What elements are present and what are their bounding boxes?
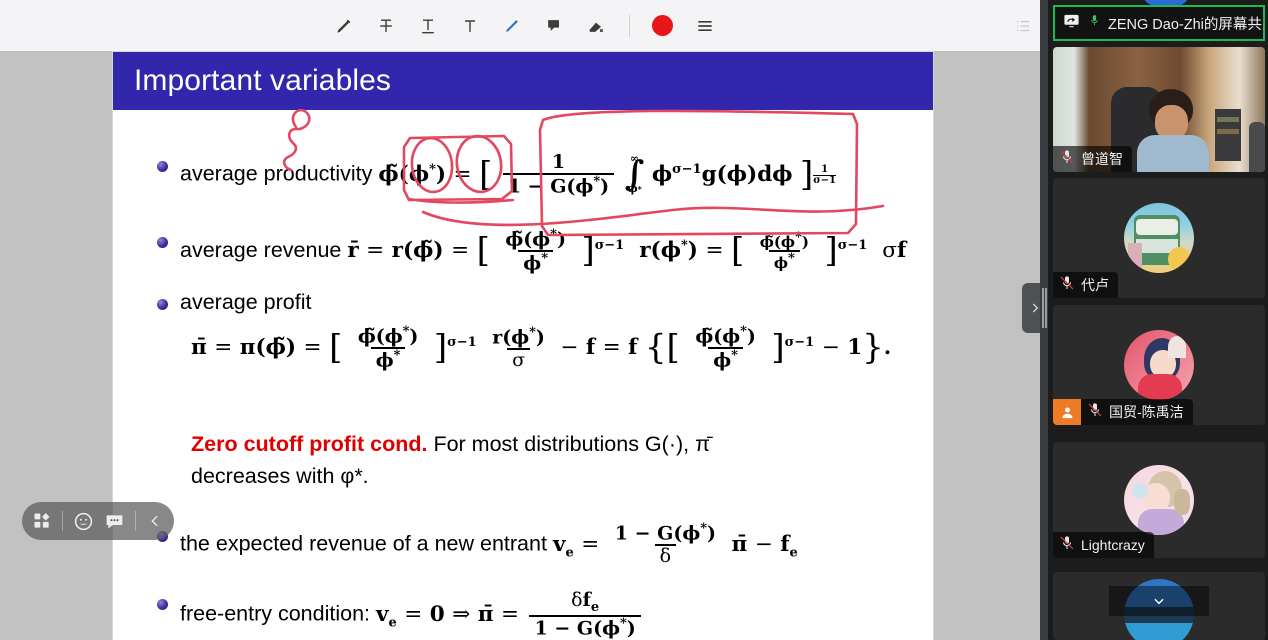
- participant-name: 国贸-陈禹洁: [1109, 402, 1184, 422]
- bullet-text: average productivity ϕ̃(ϕ*) = [ 1 1 − G(…: [180, 152, 836, 197]
- apps-grid-icon[interactable]: [32, 510, 52, 532]
- note-text: For most distributions G(·), π̄: [433, 432, 709, 456]
- participant-name-badge: Lightcrazy: [1053, 532, 1154, 558]
- hamburger-menu-icon[interactable]: [692, 13, 718, 39]
- text-strikethrough-icon[interactable]: [373, 13, 399, 39]
- avatar: [1124, 465, 1194, 535]
- note-text: decreases with φ*.: [191, 464, 369, 488]
- bullet-label: average revenue: [180, 238, 341, 262]
- emoji-reaction-icon[interactable]: [73, 510, 94, 532]
- screen-share-icon: [1062, 12, 1081, 34]
- screen-share-label: ZENG Dao-Zhi的屏幕共: [1108, 13, 1262, 34]
- note-zero-cutoff-profit: Zero cutoff profit cond. For most distri…: [191, 432, 710, 457]
- participant-name-badge: 国贸-陈禹洁: [1081, 399, 1193, 425]
- participant-tile-dailu[interactable]: 代卢: [1053, 178, 1265, 298]
- bullet-text: average revenue r̄ = r(ϕ̃) = [ ϕ̃(ϕ*)ϕ* …: [180, 228, 906, 274]
- page-title: Important variables: [113, 64, 391, 98]
- pen-tool-icon[interactable]: [331, 13, 357, 39]
- bullet-average-productivity: average productivity ϕ̃(ϕ*) = [ 1 1 − G(…: [157, 152, 836, 197]
- bullet-dot-icon: [157, 599, 168, 610]
- microphone-icon: [1088, 12, 1101, 34]
- floating-toolbar: [22, 502, 174, 540]
- mic-muted-icon: [1059, 535, 1075, 556]
- annotation-toolbar: [0, 0, 1048, 52]
- bullet-expected-revenue: the expected revenue of a new entrant ve…: [157, 522, 798, 567]
- host-badge-icon: [1053, 399, 1081, 425]
- mic-muted-icon: [1059, 275, 1075, 296]
- mic-muted-icon: [1087, 402, 1103, 423]
- participant-name-badge: 曾道智: [1053, 146, 1132, 172]
- toolbar-divider: [62, 511, 63, 531]
- note-zero-cutoff-line2: decreases with φ*.: [191, 464, 369, 489]
- toolbar-divider: [629, 15, 630, 37]
- note-red-label: Zero cutoff profit cond.: [191, 432, 427, 456]
- screen-share-banner[interactable]: ZENG Dao-Zhi的屏幕共: [1053, 5, 1265, 41]
- participant-name: 曾道智: [1081, 149, 1123, 169]
- shared-screen-region: Important variables average productivity…: [0, 0, 1048, 640]
- participant-tile-zeng-daozhi[interactable]: 曾道智: [1053, 47, 1265, 172]
- bullet-label: the expected revenue of a new entrant: [180, 532, 547, 556]
- list-view-icon[interactable]: [1012, 17, 1034, 40]
- mic-muted-icon: [1059, 149, 1075, 170]
- chat-bubble-icon[interactable]: [104, 510, 125, 532]
- panel-drag-handle[interactable]: [1040, 0, 1048, 640]
- slide-title-bar: Important variables: [113, 52, 933, 110]
- participant-strip: ZENG Dao-Zhi的屏幕共: [1048, 0, 1268, 640]
- participant-tile-lightcrazy[interactable]: Lightcrazy: [1053, 442, 1265, 558]
- highlighter-pen-icon[interactable]: [499, 13, 525, 39]
- bullet-label: free-entry condition:: [180, 602, 370, 626]
- participant-name: 代卢: [1081, 275, 1109, 295]
- scroll-down-button[interactable]: [1109, 586, 1209, 616]
- record-dot-icon[interactable]: [650, 13, 676, 39]
- toolbar-divider: [135, 511, 136, 531]
- avatar: [1124, 330, 1194, 400]
- bullet-dot-icon: [157, 161, 168, 172]
- bullet-text: the expected revenue of a new entrant ve…: [180, 522, 798, 567]
- comment-icon[interactable]: [541, 13, 567, 39]
- presentation-slide: Important variables average productivity…: [113, 52, 933, 640]
- bullet-label: average productivity: [180, 162, 372, 186]
- text-underline-icon[interactable]: [415, 13, 441, 39]
- text-tool-icon[interactable]: [457, 13, 483, 39]
- participant-tile-partial[interactable]: [1053, 572, 1265, 640]
- participant-name-badge: 代卢: [1053, 272, 1118, 298]
- bullet-dot-icon: [157, 299, 168, 310]
- eraser-icon[interactable]: [583, 13, 609, 39]
- bullet-average-profit: average profit: [157, 290, 311, 315]
- avatar: [1124, 203, 1194, 273]
- formula-average-profit: π̄ = π(ϕ̃) = [ ϕ̃(ϕ*)ϕ* ]σ−1 r(ϕ*)σ − f …: [191, 325, 891, 371]
- participant-name: Lightcrazy: [1081, 537, 1145, 553]
- collapse-left-icon[interactable]: [146, 510, 164, 532]
- bullet-free-entry-condition: free-entry condition: ve = 0 ⇒ π̄ = δfe1…: [157, 590, 644, 639]
- slide-body: average productivity ϕ̃(ϕ*) = [ 1 1 − G(…: [113, 110, 933, 640]
- bullet-text: average profit: [180, 290, 311, 315]
- bullet-text: free-entry condition: ve = 0 ⇒ π̄ = δfe1…: [180, 590, 644, 639]
- bullet-average-revenue: average revenue r̄ = r(ϕ̃) = [ ϕ̃(ϕ*)ϕ* …: [157, 228, 906, 274]
- bullet-label: average profit: [180, 290, 311, 314]
- participant-tile-guomao-chenyujie[interactable]: 国贸-陈禹洁: [1053, 305, 1265, 425]
- bullet-dot-icon: [157, 237, 168, 248]
